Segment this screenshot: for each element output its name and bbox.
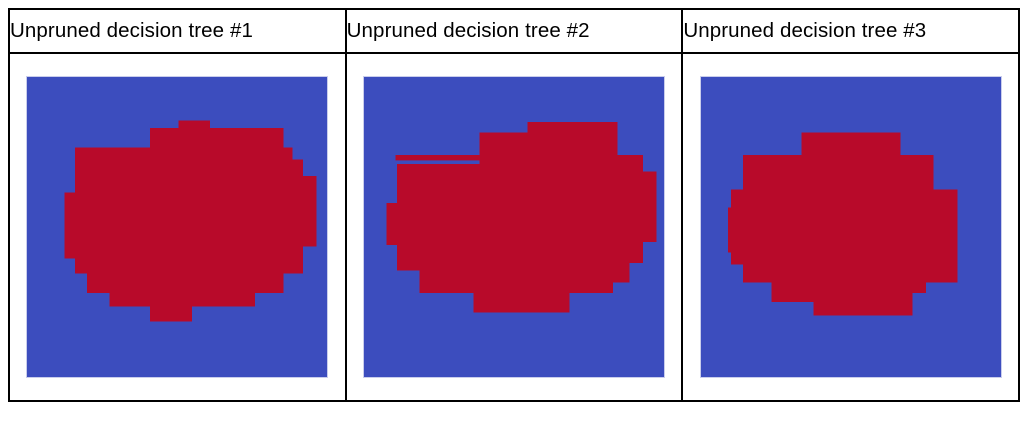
isolated-sliver-region	[395, 155, 479, 160]
panel-title-tree-1: Unpruned decision tree #1	[10, 21, 345, 42]
plot-cell-tree-3	[682, 53, 1019, 401]
class-1-regions	[65, 121, 317, 322]
decision-boundary-tree-1	[27, 77, 327, 377]
plot-wrap-tree-3	[683, 54, 1018, 400]
panel-title-tree-3: Unpruned decision tree #3	[683, 21, 1018, 42]
decision-tree-figure-table: Unpruned decision tree #1 Unpruned decis…	[8, 8, 1020, 402]
main-blob-region	[65, 121, 317, 322]
plot-wrap-tree-1	[10, 54, 345, 400]
decision-boundary-tree-2	[364, 77, 664, 377]
header-cell-tree-3: Unpruned decision tree #3	[682, 9, 1019, 53]
plot-row	[9, 53, 1019, 401]
header-row: Unpruned decision tree #1 Unpruned decis…	[9, 9, 1019, 53]
panel-title-tree-2: Unpruned decision tree #2	[347, 21, 682, 42]
plot-cell-tree-1	[9, 53, 346, 401]
plot-cell-tree-2	[346, 53, 683, 401]
plot-wrap-tree-2	[347, 54, 682, 400]
decision-boundary-tree-3	[701, 77, 1001, 377]
header-cell-tree-2: Unpruned decision tree #2	[346, 9, 683, 53]
header-cell-tree-1: Unpruned decision tree #1	[9, 9, 346, 53]
